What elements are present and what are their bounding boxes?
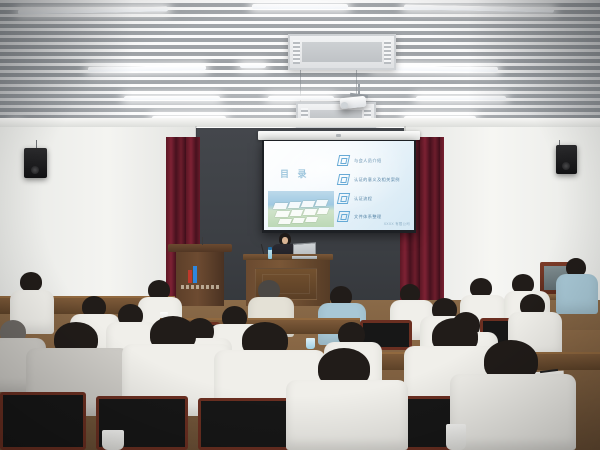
presenter-laptop-base[interactable]: [292, 256, 317, 259]
paper-cup: [446, 424, 466, 450]
lectern-microphone: [202, 237, 203, 245]
chair[interactable]: [0, 392, 86, 450]
audience-torso: [286, 380, 408, 450]
slide-footer: XXXX 有限公司: [384, 221, 410, 226]
av-operator-torso: [556, 274, 598, 314]
toc-item-2: 认证的意义及相关案例: [338, 174, 400, 185]
lectern-emblem-red-bar: [188, 270, 192, 283]
slide-site-rendering: [268, 191, 334, 227]
speaker-bracket: [36, 140, 37, 148]
screen-valance-bracket: [336, 134, 341, 137]
lectern-nameplate: [181, 285, 219, 289]
slide-title: 目 录: [280, 167, 310, 180]
toc-bullet-icon: [337, 193, 350, 204]
toc-item-1: 与会人员介绍: [338, 155, 382, 166]
toc-bullet-icon: [337, 211, 350, 222]
meeting-room-photo: 目 录 与会人员介绍 认证的意义及相关案例 认证流程 文件体系整理: [0, 0, 600, 450]
audience-head: [20, 272, 42, 292]
toc-item-3: 认证流程: [338, 193, 372, 204]
chair[interactable]: [198, 398, 290, 450]
ac-vent: [288, 34, 396, 70]
lectern-emblem-blue-bar: [193, 266, 197, 283]
toc-item-4: 文件体系整理: [338, 211, 382, 222]
presenter-face: [282, 237, 288, 244]
lectern-top: [168, 244, 232, 252]
projection-screen[interactable]: 目 录 与会人员介绍 认证的意义及相关案例 认证流程 文件体系整理: [264, 141, 414, 230]
toc-bullet-icon: [337, 174, 350, 185]
wall-speaker-right: [556, 145, 577, 174]
toc-bullet-icon: [337, 155, 350, 166]
paper-cup: [102, 430, 124, 450]
wall-speaker-left: [24, 148, 47, 178]
projector-lens: [341, 102, 348, 108]
toc-item-label: 认证流程: [354, 196, 372, 202]
water-bottle-cap: [268, 247, 272, 250]
toc-item-label: 文件体系整理: [354, 214, 382, 220]
audience-torso: [450, 374, 576, 450]
lectern[interactable]: [172, 244, 228, 306]
toc-item-label: 与会人员介绍: [354, 158, 382, 164]
water-bottle: [268, 249, 272, 259]
lectern-body: [176, 252, 224, 306]
toc-item-label: 认证的意义及相关案例: [354, 177, 400, 183]
wall-cornice-ledge: [0, 118, 600, 127]
paper-cup: [306, 338, 315, 349]
